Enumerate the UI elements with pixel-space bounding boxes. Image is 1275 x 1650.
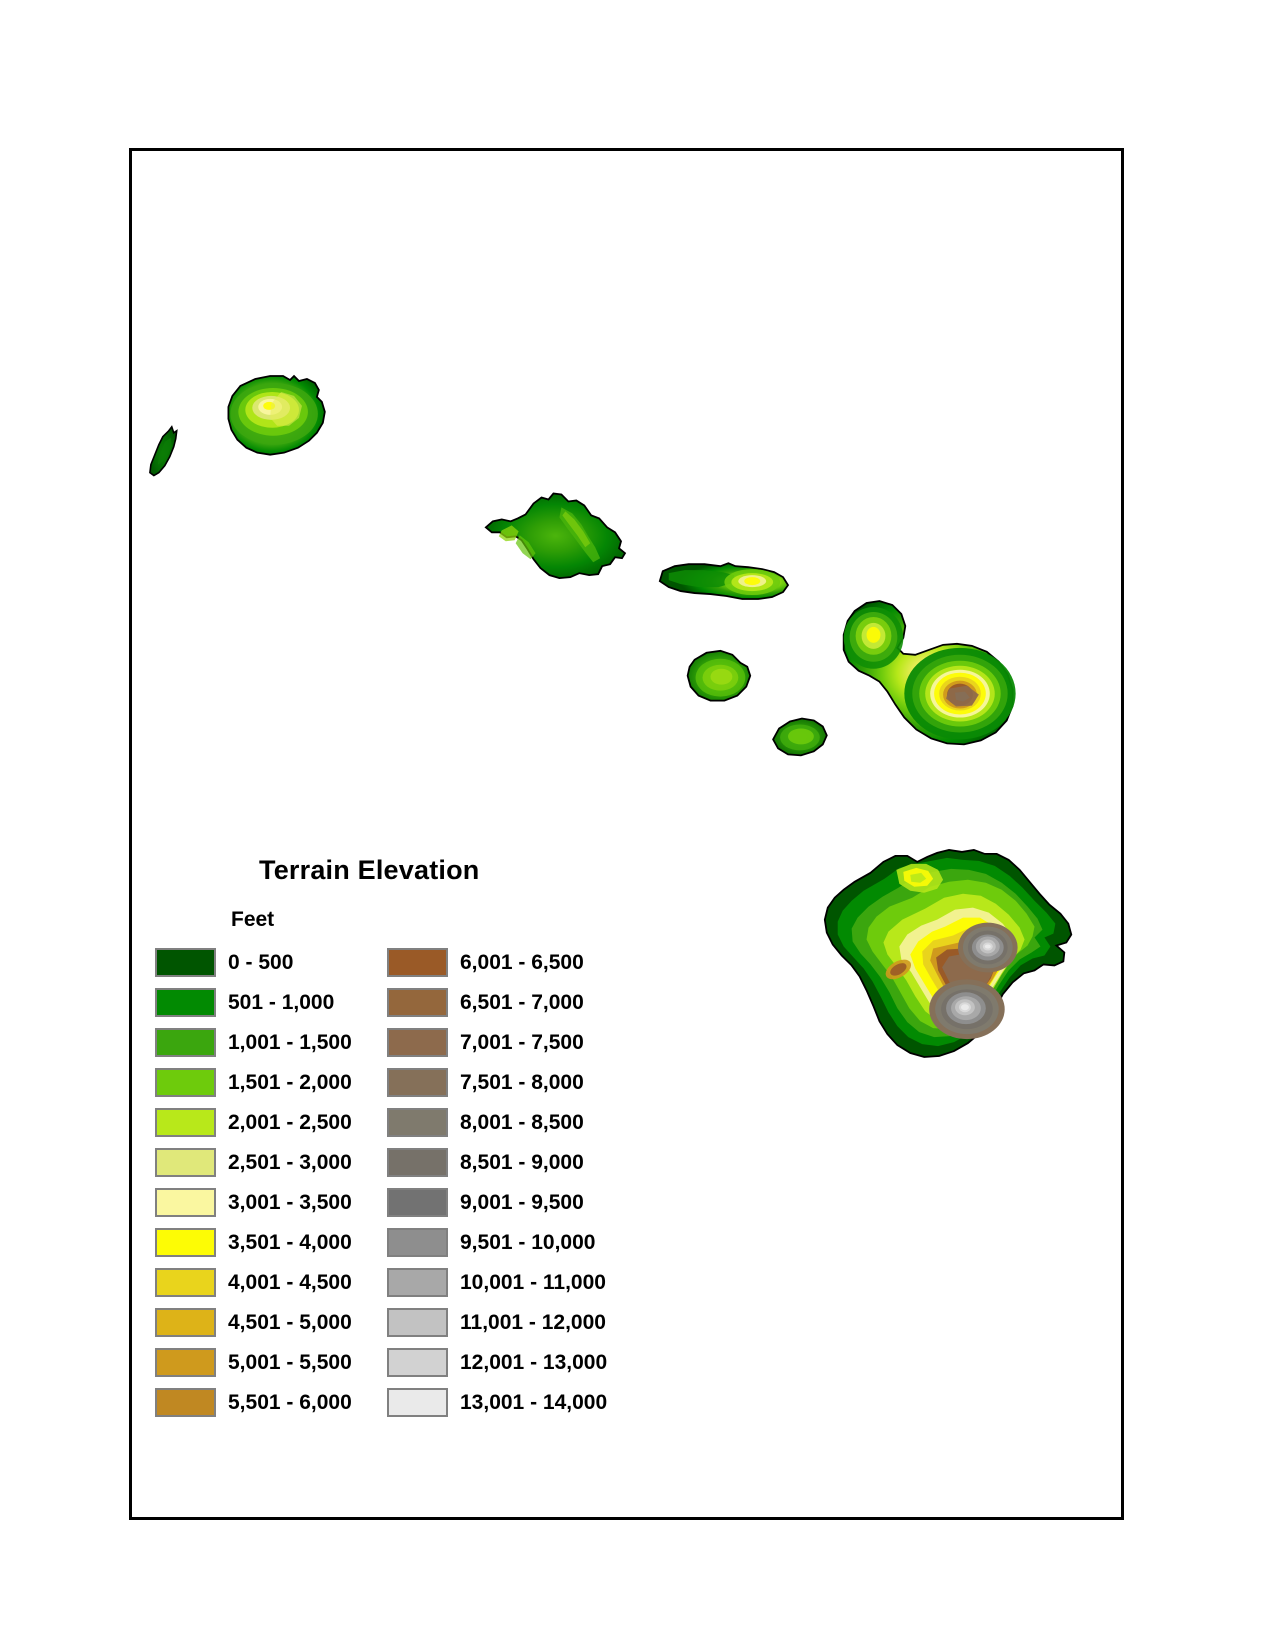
legend-swatch-8501-9000 [387,1148,448,1177]
legend-item-9001-9500[interactable]: 9,001 - 9,500 [387,1182,687,1222]
legend-swatch-1501-2000 [155,1068,216,1097]
legend-item-3501-4000[interactable]: 3,501 - 4,000 [155,1222,387,1262]
legend-label-9501-10000: 9,501 - 10,000 [460,1232,595,1253]
legend-swatch-3501-4000 [155,1228,216,1257]
legend-item-2001-2500[interactable]: 2,001 - 2,500 [155,1102,387,1142]
legend-swatch-8001-8500 [387,1108,448,1137]
map-legend: Terrain Elevation Feet 0 - 500 501 - 1,0… [155,855,695,1422]
legend-swatch-6501-7000 [387,988,448,1017]
legend-label-1501-2000: 1,501 - 2,000 [228,1072,352,1093]
legend-title: Terrain Elevation [259,855,695,886]
legend-label-3501-4000: 3,501 - 4,000 [228,1232,352,1253]
legend-swatch-2501-3000 [155,1148,216,1177]
legend-swatch-5001-5500 [155,1348,216,1377]
legend-label-5001-5500: 5,001 - 5,500 [228,1352,352,1373]
legend-label-5501-6000: 5,501 - 6,000 [228,1392,352,1413]
legend-item-4001-4500[interactable]: 4,001 - 4,500 [155,1262,387,1302]
island-molokai[interactable] [660,563,788,599]
legend-item-8001-8500[interactable]: 8,001 - 8,500 [387,1102,687,1142]
legend-label-7001-7500: 7,001 - 7,500 [460,1032,584,1053]
legend-label-12001-13000: 12,001 - 13,000 [460,1352,607,1373]
legend-columns: 0 - 500 501 - 1,000 1,001 - 1,500 1,501 … [155,942,695,1422]
legend-label-0-500: 0 - 500 [228,952,293,973]
legend-item-12001-13000[interactable]: 12,001 - 13,000 [387,1342,687,1382]
legend-label-1001-1500: 1,001 - 1,500 [228,1032,352,1053]
legend-swatch-4501-5000 [155,1308,216,1337]
legend-units-label: Feet [231,908,695,932]
legend-swatch-12001-13000 [387,1348,448,1377]
legend-label-7501-8000: 7,501 - 8,000 [460,1072,584,1093]
legend-column-left: 0 - 500 501 - 1,000 1,001 - 1,500 1,501 … [155,942,387,1422]
legend-label-11001-12000: 11,001 - 12,000 [460,1312,606,1333]
island-hawaii[interactable] [825,850,1072,1057]
legend-swatch-6001-6500 [387,948,448,977]
island-maui[interactable] [844,601,1016,744]
legend-swatch-5501-6000 [155,1388,216,1417]
legend-item-2501-3000[interactable]: 2,501 - 3,000 [155,1142,387,1182]
legend-item-6001-6500[interactable]: 6,001 - 6,500 [387,942,687,982]
island-oahu[interactable] [486,493,625,578]
legend-swatch-0-500 [155,948,216,977]
legend-item-3001-3500[interactable]: 3,001 - 3,500 [155,1182,387,1222]
legend-label-13001-14000: 13,001 - 14,000 [460,1392,607,1413]
legend-item-4501-5000[interactable]: 4,501 - 5,000 [155,1302,387,1342]
legend-item-6501-7000[interactable]: 6,501 - 7,000 [387,982,687,1022]
island-kahoolawe[interactable] [773,719,827,756]
legend-label-4001-4500: 4,001 - 4,500 [228,1272,352,1293]
legend-item-0-500[interactable]: 0 - 500 [155,942,387,982]
legend-label-10001-11000: 10,001 - 11,000 [460,1272,606,1293]
legend-swatch-501-1000 [155,988,216,1017]
legend-item-7001-7500[interactable]: 7,001 - 7,500 [387,1022,687,1062]
legend-label-4501-5000: 4,501 - 5,000 [228,1312,352,1333]
legend-label-3001-3500: 3,001 - 3,500 [228,1192,352,1213]
legend-column-right: 6,001 - 6,500 6,501 - 7,000 7,001 - 7,50… [387,942,687,1422]
map-page: Terrain Elevation Feet 0 - 500 501 - 1,0… [0,0,1275,1650]
legend-label-6001-6500: 6,001 - 6,500 [460,952,584,973]
island-kauai[interactable] [228,376,324,455]
legend-item-1501-2000[interactable]: 1,501 - 2,000 [155,1062,387,1102]
legend-label-2501-3000: 2,501 - 3,000 [228,1152,352,1173]
legend-item-11001-12000[interactable]: 11,001 - 12,000 [387,1302,687,1342]
legend-label-8001-8500: 8,001 - 8,500 [460,1112,584,1133]
legend-item-5001-5500[interactable]: 5,001 - 5,500 [155,1342,387,1382]
legend-swatch-9501-10000 [387,1228,448,1257]
legend-item-5501-6000[interactable]: 5,501 - 6,000 [155,1382,387,1422]
legend-item-7501-8000[interactable]: 7,501 - 8,000 [387,1062,687,1102]
island-niihau[interactable] [150,427,177,476]
legend-label-6501-7000: 6,501 - 7,000 [460,992,584,1013]
legend-item-10001-11000[interactable]: 10,001 - 11,000 [387,1262,687,1302]
island-lanai[interactable] [688,651,751,701]
legend-swatch-4001-4500 [155,1268,216,1297]
legend-swatch-11001-12000 [387,1308,448,1337]
legend-swatch-13001-14000 [387,1388,448,1417]
legend-item-9501-10000[interactable]: 9,501 - 10,000 [387,1222,687,1262]
legend-label-501-1000: 501 - 1,000 [228,992,334,1013]
legend-item-8501-9000[interactable]: 8,501 - 9,000 [387,1142,687,1182]
legend-swatch-2001-2500 [155,1108,216,1137]
legend-swatch-3001-3500 [155,1188,216,1217]
legend-item-501-1000[interactable]: 501 - 1,000 [155,982,387,1022]
legend-item-13001-14000[interactable]: 13,001 - 14,000 [387,1382,687,1422]
legend-swatch-7001-7500 [387,1028,448,1057]
legend-item-1001-1500[interactable]: 1,001 - 1,500 [155,1022,387,1062]
legend-swatch-10001-11000 [387,1268,448,1297]
legend-label-2001-2500: 2,001 - 2,500 [228,1112,352,1133]
legend-swatch-9001-9500 [387,1188,448,1217]
legend-label-8501-9000: 8,501 - 9,000 [460,1152,584,1173]
legend-label-9001-9500: 9,001 - 9,500 [460,1192,584,1213]
legend-swatch-1001-1500 [155,1028,216,1057]
legend-swatch-7501-8000 [387,1068,448,1097]
